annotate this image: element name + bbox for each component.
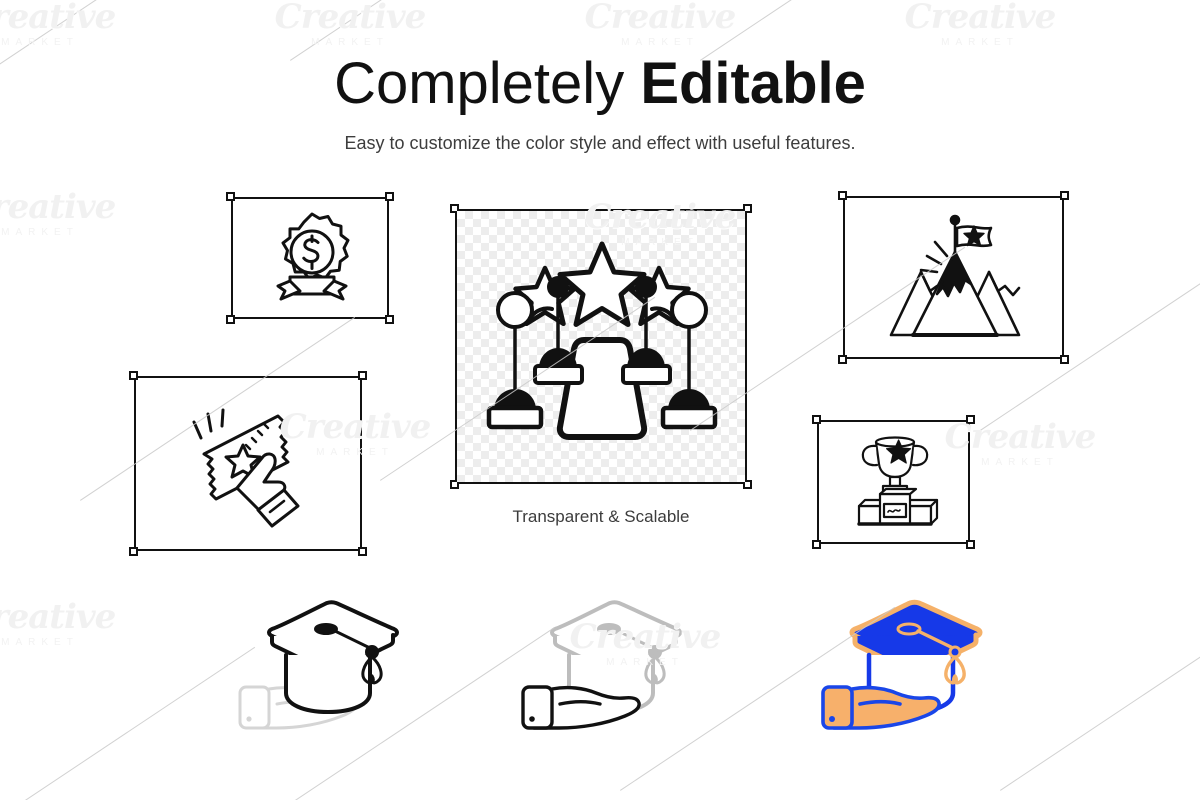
watermark-sub-text: MARKET [0,227,140,238]
frame-edge-right [968,420,970,544]
watermark-line [1000,607,1200,791]
resize-handle-bottom-right[interactable] [385,315,394,324]
watermark-sub-text: MARKET [560,37,760,48]
watermark-script-text: Creative [880,0,1080,34]
resize-handle-top-left[interactable] [226,192,235,201]
frame-edge-bottom [134,549,362,551]
resize-handle-bottom-right[interactable] [358,547,367,556]
watermark-sub-text: MARKET [0,37,140,48]
watermark-brand: Creative MARKET [880,0,1080,48]
watermark-sub-text: MARKET [250,37,450,48]
resize-handle-top-left[interactable] [838,191,847,200]
frame-edge-top [231,197,389,199]
resize-handle-top-right[interactable] [966,415,975,424]
frame-edge-top [134,376,362,378]
frame-edge-left [134,376,136,551]
money-badge-icon [266,209,358,309]
frame-edge-bottom [231,317,389,319]
resize-handle-bottom-right[interactable] [1060,355,1069,364]
frame-edge-right [387,197,389,319]
frame-edge-right [1062,196,1064,359]
frame-edge-right [745,209,747,484]
resize-handle-top-right[interactable] [385,192,394,201]
watermark-script-text: Creative [250,0,450,34]
resize-handle-bottom-left[interactable] [226,315,235,324]
watermark-brand: Creative MARKET [0,0,140,48]
ticket-hand-icon [178,398,324,530]
resize-handle-top-right[interactable] [1060,191,1069,200]
watermark-script-text: Creative [0,190,140,224]
watermark-sub-text: MARKET [880,37,1080,48]
resize-handle-top-left[interactable] [129,371,138,380]
graduation-cap-hand-gray [505,583,691,743]
watermark-brand: Creative MARKET [0,600,140,648]
watermark-script-text: Creative [560,0,760,34]
frame-edge-right [360,376,362,551]
frame-edge-bottom [817,542,970,544]
graduation-cap-hand-black [222,583,408,743]
resize-handle-bottom-left[interactable] [812,540,821,549]
resize-handle-bottom-left[interactable] [838,355,847,364]
resize-handle-top-right[interactable] [358,371,367,380]
trophy-podium-icon [845,432,945,530]
resize-handle-top-left[interactable] [812,415,821,424]
graduation-cap-hand-color [805,583,991,743]
watermark-brand: Creative MARKET [0,190,140,238]
page-title-regular: Completely [334,51,640,116]
watermark-sub-text: MARKET [0,637,140,648]
resize-handle-bottom-right[interactable] [966,540,975,549]
watermark-script-text: Creative [0,0,140,34]
poster-canvas: Completely Editable Easy to customize th… [0,0,1200,800]
frame-edge-bottom [843,357,1064,359]
page-subtitle: Easy to customize the color style and ef… [0,133,1200,154]
podium-stars-icon [483,238,721,458]
mountain-flag-icon [885,212,1025,347]
page-title: Completely Editable [0,54,1200,115]
watermark-brand: Creative MARKET [250,0,450,48]
watermark-brand: Creative MARKET [560,0,760,48]
frame-edge-left [231,197,233,319]
watermark-line [0,647,255,800]
frame-edge-bottom [455,482,747,484]
frame-edge-left [817,420,819,544]
frame-edge-left [843,196,845,359]
center-panel-caption: Transparent & Scalable [455,507,747,527]
resize-handle-bottom-left[interactable] [129,547,138,556]
page-title-bold: Editable [640,51,866,116]
frame-edge-top [817,420,970,422]
watermark-script-text: Creative [0,600,140,634]
frame-edge-top [843,196,1064,198]
